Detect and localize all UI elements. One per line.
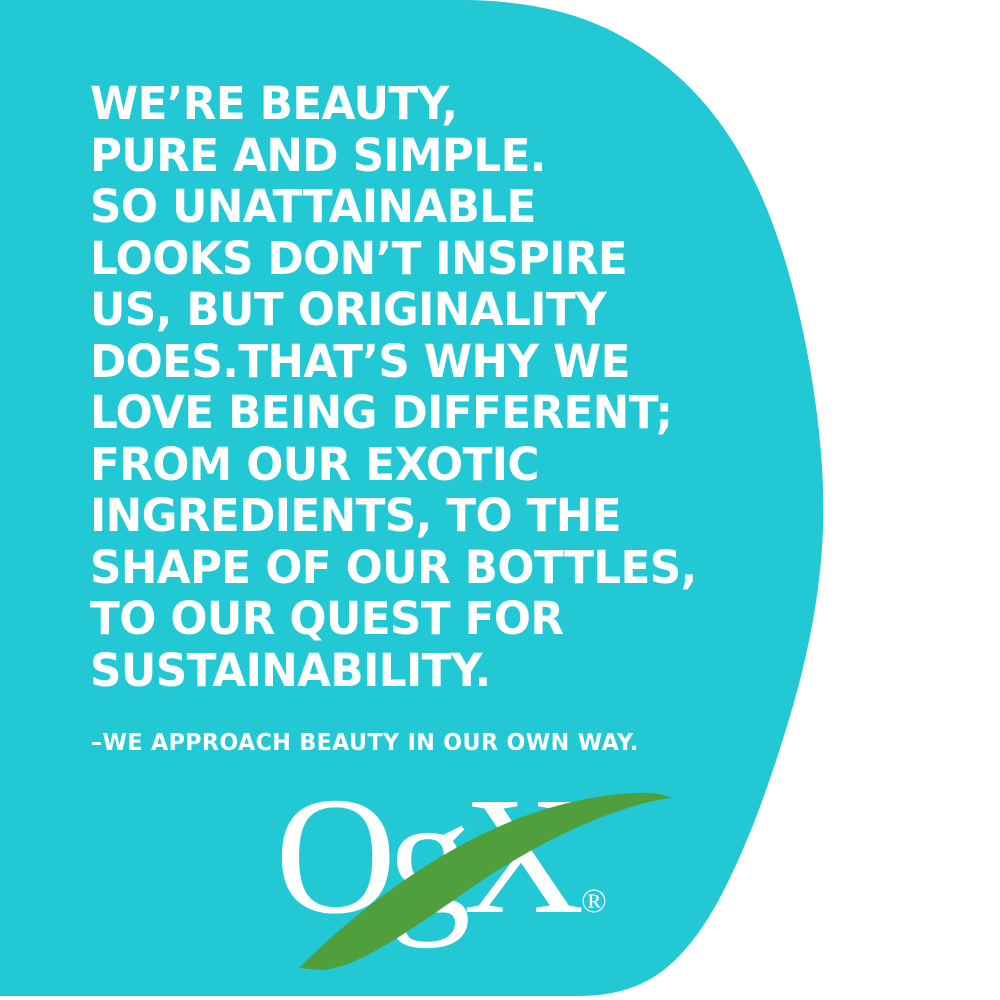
quote-line: LOOKS DON’T INSPIRE — [90, 233, 788, 285]
quote-line: FROM OUR EXOTIC — [90, 439, 788, 491]
quote-line: TO OUR QUEST FOR — [90, 593, 788, 645]
quote-line: WE’RE BEAUTY, — [90, 78, 788, 130]
quote-line: PURE AND SIMPLE. — [90, 130, 788, 182]
quote-line: SO UNATTAINABLE — [90, 181, 788, 233]
quote-line: DOES.THAT’S WHY WE — [90, 336, 788, 388]
quote-line: SUSTAINABILITY. — [90, 645, 788, 697]
quote-line: SHAPE OF OUR BOTTLES, — [90, 542, 788, 594]
quote-line: LOVE BEING DIFFERENT; — [90, 387, 788, 439]
ogx-logo: O g X ® — [275, 790, 725, 970]
quote-text-block: WE’RE BEAUTY, PURE AND SIMPLE. SO UNATTA… — [90, 78, 810, 696]
attribution-line: –WE APPROACH BEAUTY IN OUR OWN WAY. — [91, 729, 639, 757]
poster-canvas: WE’RE BEAUTY, PURE AND SIMPLE. SO UNATTA… — [0, 0, 1000, 1000]
quote-line: US, BUT ORIGINALITY — [90, 284, 788, 336]
registered-trademark-icon: ® — [581, 883, 607, 920]
quote-line: INGREDIENTS, TO THE — [90, 490, 788, 542]
